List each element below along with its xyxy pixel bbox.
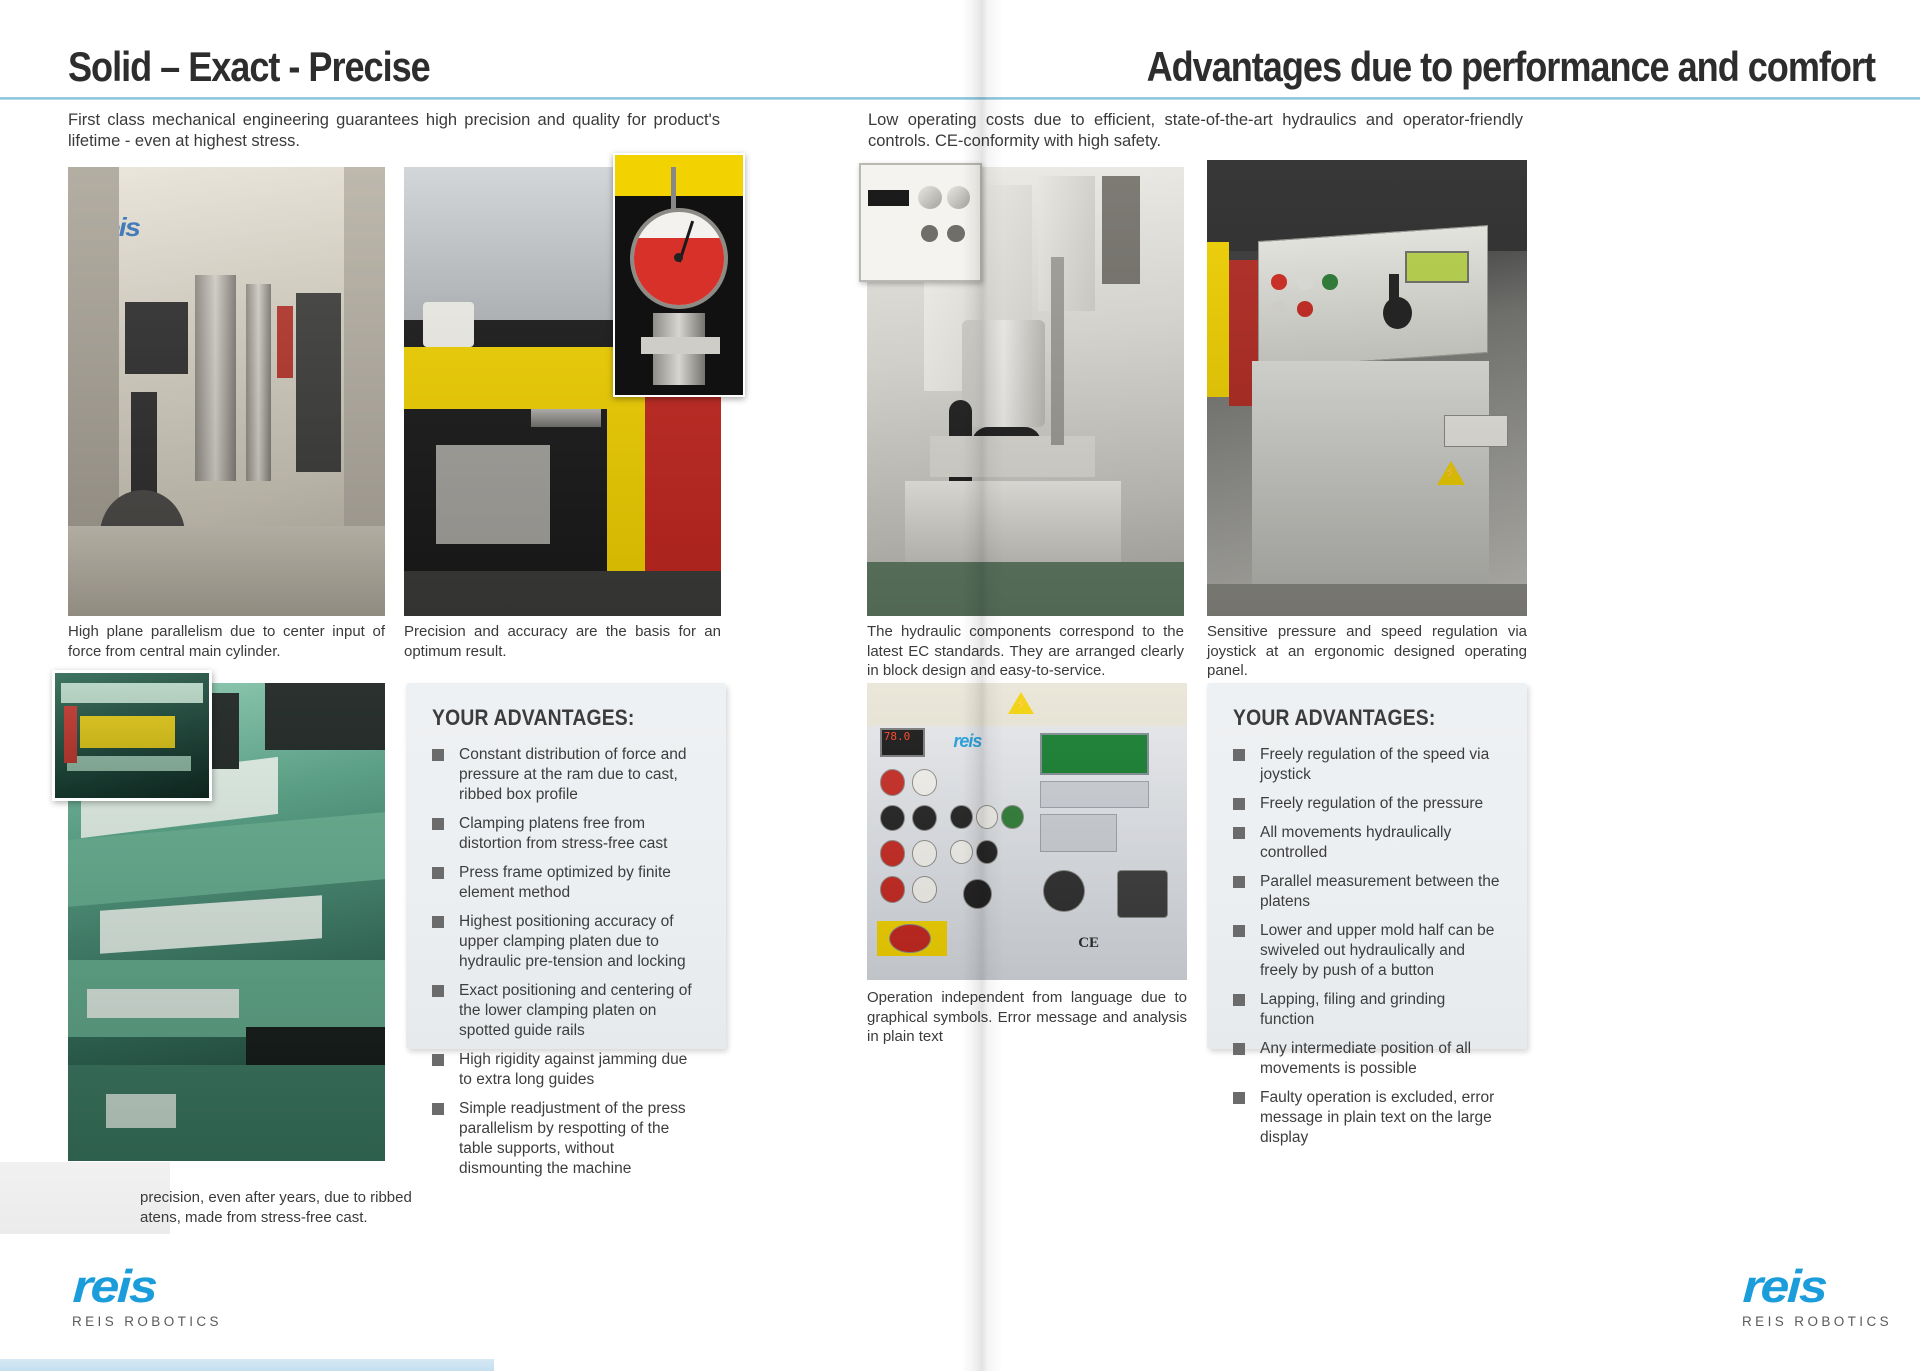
list-item-text: High rigidity against jamming due to ext… [459, 1051, 687, 1088]
list-item-text: Faulty operation is excluded, error mess… [1260, 1089, 1494, 1146]
right-caption-photo2: Sensitive pressure and speed regulation … [1207, 622, 1527, 681]
list-item-text: Exact positioning and centering of the l… [459, 982, 692, 1039]
bullet-square-icon [1233, 876, 1245, 888]
list-item: Press frame optimized by finite element … [432, 863, 700, 903]
bullet-square-icon [432, 985, 444, 997]
list-item: All movements hydraulically controlled [1233, 823, 1501, 863]
list-item-text: Constant distribution of force and press… [459, 746, 686, 803]
list-item-text: Highest positioning accuracy of upper cl… [459, 913, 686, 970]
bullet-square-icon [1233, 925, 1245, 937]
right-header-rule [985, 97, 1920, 100]
bullet-square-icon [1233, 749, 1245, 761]
list-item-text: Parallel measurement between the platens [1260, 873, 1500, 910]
photo-machine-green-inset [52, 670, 212, 801]
bullet-square-icon [432, 916, 444, 928]
list-item: Lapping, filing and grinding function [1233, 990, 1501, 1030]
bottom-accent-bar [0, 1359, 494, 1371]
list-item: Constant distribution of force and press… [432, 745, 700, 805]
right-page-title: Advantages due to performance and comfor… [1028, 44, 1875, 90]
bullet-square-icon [432, 867, 444, 879]
bullet-square-icon [432, 749, 444, 761]
photo-dial-gauge-inset [613, 153, 745, 397]
left-caption-photo3-text: precision, even after years, due to ribb… [140, 1189, 412, 1226]
reis-logo-mark: reis [72, 1263, 242, 1309]
right-advantages-list: Freely regulation of the speed via joyst… [1233, 745, 1501, 1148]
list-item-text: Lower and upper mold half can be swivele… [1260, 922, 1494, 979]
list-item: Freely regulation of the speed via joyst… [1233, 745, 1501, 785]
list-item: Simple readjustment of the press paralle… [432, 1099, 700, 1179]
right-intro-text: Low operating costs due to efficient, st… [868, 110, 1523, 152]
list-item: Clamping platens free from distortion fr… [432, 814, 700, 854]
bullet-square-icon [1233, 1043, 1245, 1055]
left-header-rule [0, 97, 985, 100]
left-advantages-heading: YOUR ADVANTAGES: [432, 705, 668, 731]
dial-gauge [630, 208, 727, 309]
photo-operator-panel: reis 78.0 CE [867, 683, 1187, 980]
list-item: High rigidity against jamming due to ext… [432, 1050, 700, 1090]
left-title-text: Solid – Exact - Precise [68, 44, 670, 90]
reis-logo-subtitle: REIS ROBOTICS [72, 1314, 222, 1329]
left-page-title: Solid – Exact - Precise [68, 44, 768, 90]
list-item-text: Any intermediate position of all movemen… [1260, 1040, 1471, 1077]
list-item-text: All movements hydraulically controlled [1260, 824, 1451, 861]
list-item: Any intermediate position of all movemen… [1233, 1039, 1501, 1079]
list-item: Exact positioning and centering of the l… [432, 981, 700, 1041]
bullet-square-icon [1233, 994, 1245, 1006]
reis-logo-mark: reis [1742, 1263, 1912, 1309]
left-caption-photo2: Precision and accuracy are the basis for… [404, 622, 721, 661]
list-item: Parallel measurement between the platens [1233, 872, 1501, 912]
list-item: Lower and upper mold half can be swivele… [1233, 921, 1501, 981]
list-item-text: Simple readjustment of the press paralle… [459, 1100, 686, 1177]
right-logo: reis REIS ROBOTICS [1742, 1263, 1892, 1329]
bullet-square-icon [432, 1103, 444, 1115]
right-title-text: Advantages due to performance and comfor… [1147, 44, 1875, 90]
left-intro-text: First class mechanical engineering guara… [68, 110, 720, 152]
list-item: Freely regulation of the pressure [1233, 794, 1501, 814]
list-item-text: Lapping, filing and grinding function [1260, 991, 1445, 1028]
brochure-spread: Solid – Exact - Precise First class mech… [0, 0, 1920, 1371]
left-advantages-panel: YOUR ADVANTAGES: Constant distribution o… [406, 683, 726, 1049]
left-logo: reis REIS ROBOTICS [72, 1263, 222, 1329]
list-item-text: Freely regulation of the speed via joyst… [1260, 746, 1489, 783]
list-item-text: Freely regulation of the pressure [1260, 795, 1483, 812]
bullet-square-icon [1233, 1092, 1245, 1104]
bullet-square-icon [1233, 827, 1245, 839]
list-item-text: Clamping platens free from distortion fr… [459, 815, 667, 852]
reis-logo-subtitle: REIS ROBOTICS [1742, 1314, 1892, 1329]
left-page: Solid – Exact - Precise First class mech… [0, 0, 985, 1371]
left-advantages-list: Constant distribution of force and press… [432, 745, 700, 1179]
right-caption-photo3: Operation independent from language due … [867, 988, 1187, 1047]
bullet-square-icon [1233, 798, 1245, 810]
bullet-square-icon [432, 818, 444, 830]
bullet-square-icon [432, 1054, 444, 1066]
right-advantages-panel: YOUR ADVANTAGES: Freely regulation of th… [1207, 683, 1527, 1049]
photo-control-box-inset [859, 163, 982, 282]
left-caption-photo1: High plane parallelism due to center inp… [68, 622, 385, 661]
list-item: Faulty operation is excluded, error mess… [1233, 1088, 1501, 1148]
left-caption-photo3: precision, even after years, due to ribb… [140, 1188, 430, 1227]
list-item: Highest positioning accuracy of upper cl… [432, 912, 700, 972]
right-advantages-heading: YOUR ADVANTAGES: [1233, 705, 1469, 731]
list-item-text: Press frame optimized by finite element … [459, 864, 671, 901]
photo-press-white: reis [68, 167, 385, 616]
right-caption-photo1: The hydraulic components correspond to t… [867, 622, 1184, 681]
right-page: Advantages due to performance and comfor… [985, 0, 1920, 1371]
photo-control-cabinet: ⚡ [1207, 160, 1527, 616]
